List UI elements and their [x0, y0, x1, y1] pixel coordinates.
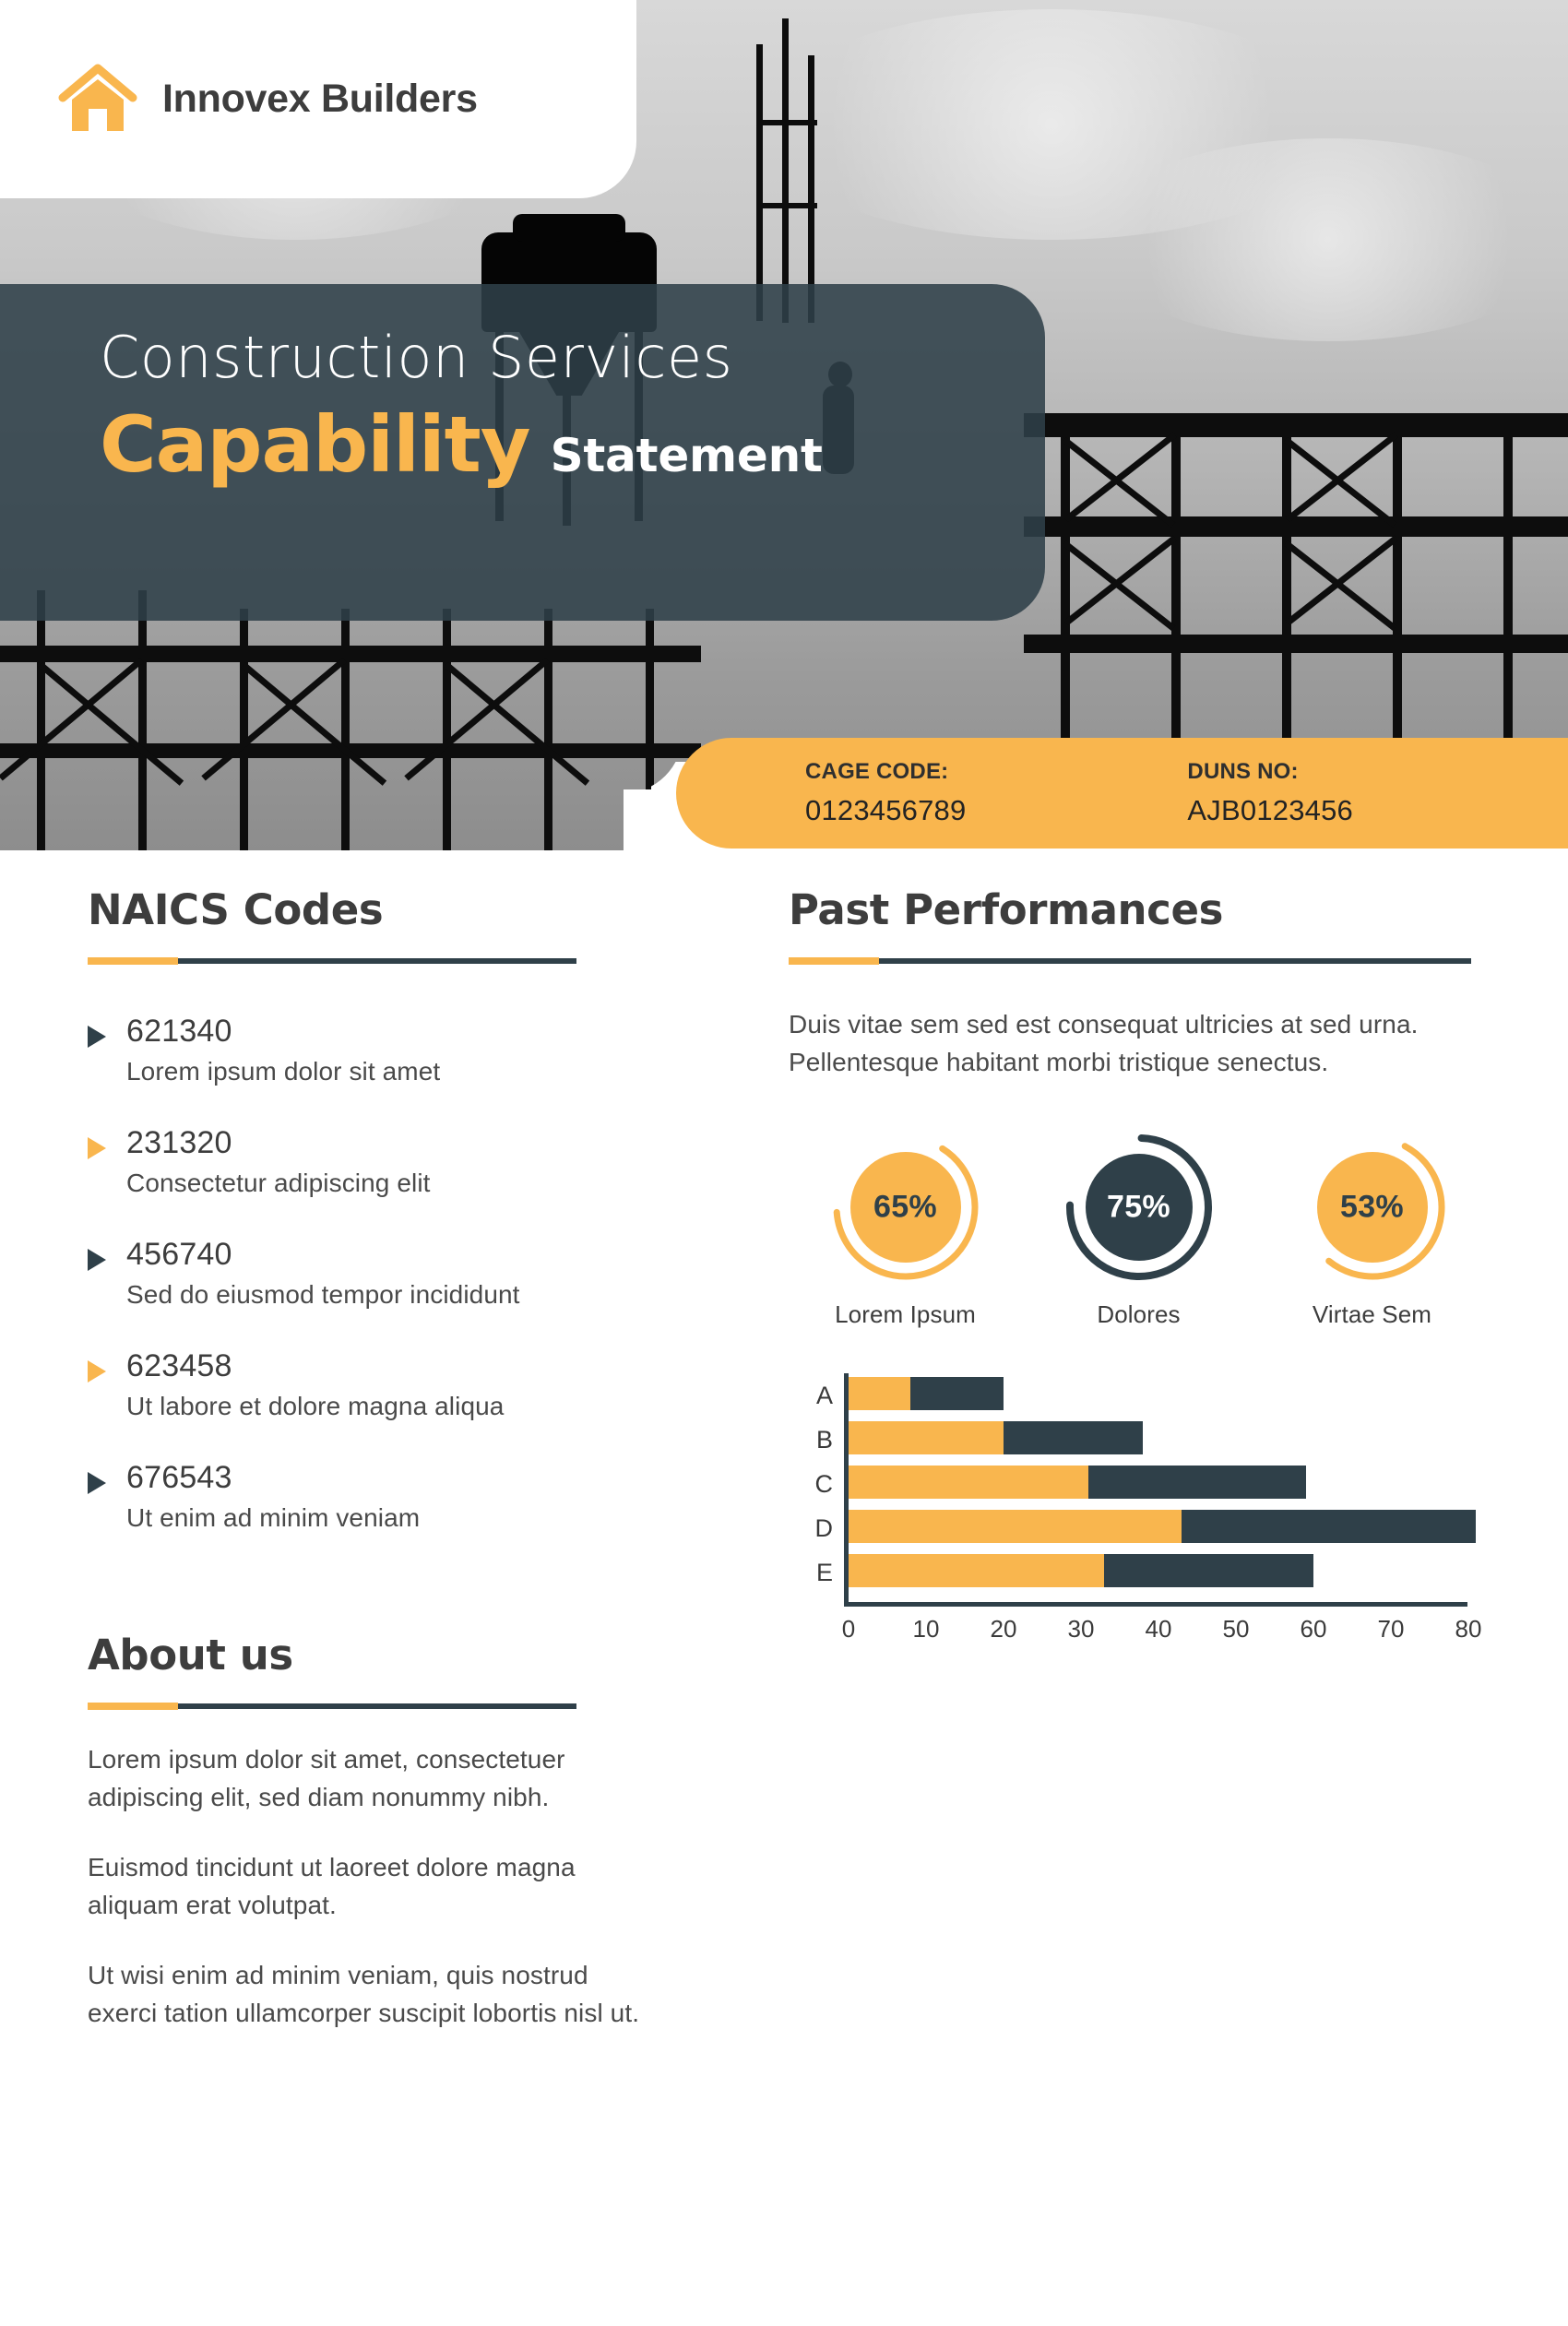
right-column: Past Performances Duis vitae sem sed est… — [789, 885, 1490, 1650]
hero-title-suffix: Statement — [551, 429, 823, 482]
donut-gauge: 75% — [1061, 1129, 1218, 1286]
chart-bar-row — [849, 1466, 1306, 1499]
chart-tick-label: 20 — [991, 1615, 1017, 1644]
gauge-item: 65% Lorem Ipsum — [789, 1129, 1022, 1329]
cage-code-value: 0123456789 — [805, 794, 966, 827]
naics-code: 456740 — [126, 1237, 232, 1272]
gauge-item: 53% Virtae Sem — [1255, 1129, 1489, 1329]
stacked-bar-chart: A B C D E 01020304050607080 — [789, 1373, 1490, 1650]
gauge-label: Dolores — [1022, 1300, 1255, 1329]
chart-bar-segment — [1004, 1421, 1143, 1454]
chart-x-axis — [844, 1602, 1467, 1607]
gauge-value: 65% — [827, 1190, 984, 1226]
chart-bar-row — [849, 1377, 1004, 1410]
chart-tick-label: 60 — [1301, 1615, 1327, 1644]
chart-tick-label: 50 — [1223, 1615, 1250, 1644]
naics-list: 621340 Lorem ipsum dolor sit amet 231320… — [88, 1014, 659, 1533]
list-item: 231320 Consectetur adipiscing elit — [88, 1125, 659, 1198]
chart-bar-row — [849, 1554, 1313, 1587]
about-heading-rule — [88, 1703, 576, 1709]
brand-logo-tab: Innovex Builders — [0, 0, 636, 198]
triangle-right-icon — [88, 1249, 106, 1271]
chart-bar-segment — [910, 1377, 1004, 1410]
hero-title-line1: Construction Services — [100, 325, 1045, 390]
past-performances-body: Duis vitae sem sed est consequat ultrici… — [789, 1006, 1490, 1081]
chart-bar-segment — [1088, 1466, 1305, 1499]
gauge-item: 75% Dolores — [1022, 1129, 1255, 1329]
naics-code: 621340 — [126, 1014, 232, 1049]
gauge-value: 53% — [1294, 1190, 1451, 1226]
list-item: 623458 Ut labore et dolore magna aliqua — [88, 1348, 659, 1421]
chart-category-label: B — [789, 1426, 833, 1454]
chart-tick-label: 30 — [1068, 1615, 1095, 1644]
gauge-label: Virtae Sem — [1255, 1300, 1489, 1329]
chart-tick-label: 10 — [913, 1615, 940, 1644]
chart-bar-segment — [849, 1510, 1182, 1543]
donut-gauge: 65% — [827, 1129, 984, 1286]
duns-no-block: DUNS NO: AJB0123456 — [1187, 759, 1353, 827]
past-performances-heading-rule — [789, 958, 1471, 964]
naics-description: Consectetur adipiscing elit — [126, 1169, 431, 1198]
duns-no-label: DUNS NO: — [1187, 759, 1353, 785]
cage-code-label: CAGE CODE: — [805, 759, 966, 785]
list-item: 456740 Sed do eiusmod tempor incididunt — [88, 1237, 659, 1310]
list-item: 621340 Lorem ipsum dolor sit amet — [88, 1014, 659, 1086]
chart-bar-segment — [1104, 1554, 1313, 1587]
triangle-right-icon — [88, 1026, 106, 1048]
identifier-code-bar: CAGE CODE: 0123456789 DUNS NO: AJB012345… — [676, 738, 1568, 849]
naics-description: Sed do eiusmod tempor incididunt — [126, 1280, 520, 1310]
chart-tick-label: 0 — [842, 1615, 855, 1644]
hero-title-highlight: Capability — [100, 399, 530, 490]
chart-bar-segment — [849, 1421, 1004, 1454]
naics-heading: NAICS Codes — [88, 885, 659, 934]
hero-title-line2: CapabilityStatement — [100, 399, 1045, 490]
chart-category-label: D — [789, 1514, 833, 1543]
naics-heading-rule — [88, 958, 576, 964]
chart-category-label: E — [789, 1559, 833, 1587]
chart-category-label: C — [789, 1470, 833, 1499]
naics-code: 231320 — [126, 1125, 232, 1160]
naics-code: 676543 — [126, 1460, 232, 1495]
chart-bar-segment — [1182, 1510, 1476, 1543]
chart-tick-label: 70 — [1378, 1615, 1405, 1644]
chart-tick-label: 40 — [1146, 1615, 1172, 1644]
brand-name: Innovex Builders — [162, 77, 478, 122]
chart-bar-row — [849, 1421, 1143, 1454]
triangle-right-icon — [88, 1137, 106, 1159]
chart-bar-segment — [849, 1466, 1088, 1499]
about-paragraph: Lorem ipsum dolor sit amet, consectetuer… — [88, 1740, 659, 1817]
naics-code: 623458 — [126, 1348, 232, 1383]
list-item: 676543 Ut enim ad minim veniam — [88, 1460, 659, 1533]
gauge-value: 75% — [1061, 1190, 1218, 1226]
naics-description: Ut enim ad minim veniam — [126, 1503, 420, 1533]
donut-gauge: 53% — [1294, 1129, 1451, 1286]
about-body: Lorem ipsum dolor sit amet, consectetuer… — [88, 1740, 659, 2033]
home-icon — [57, 63, 138, 136]
past-performances-heading: Past Performances — [789, 885, 1490, 934]
chart-bar-row — [849, 1510, 1476, 1543]
capability-statement-page: Innovex Builders Construction Services C… — [0, 0, 1568, 2217]
cage-code-block: CAGE CODE: 0123456789 — [805, 759, 966, 827]
hero-title-panel: Construction Services CapabilityStatemen… — [0, 284, 1045, 621]
chart-category-label: A — [789, 1382, 833, 1410]
gauge-group: 65% Lorem Ipsum 75% Dolores — [789, 1129, 1490, 1329]
naics-description: Lorem ipsum dolor sit amet — [126, 1057, 440, 1086]
gauge-label: Lorem Ipsum — [789, 1300, 1022, 1329]
chart-bar-segment — [849, 1377, 910, 1410]
triangle-right-icon — [88, 1360, 106, 1383]
about-heading: About us — [88, 1631, 659, 1679]
naics-description: Ut labore et dolore magna aliqua — [126, 1392, 504, 1421]
chart-bar-segment — [849, 1554, 1104, 1587]
duns-no-value: AJB0123456 — [1187, 794, 1353, 827]
about-section: About us Lorem ipsum dolor sit amet, con… — [88, 1631, 659, 2033]
triangle-right-icon — [88, 1472, 106, 1494]
left-column: NAICS Codes 621340 Lorem ipsum dolor sit… — [88, 885, 659, 2033]
chart-tick-label: 80 — [1455, 1615, 1482, 1644]
about-paragraph: Euismod tincidunt ut laoreet dolore magn… — [88, 1848, 659, 1925]
about-paragraph: Ut wisi enim ad minim veniam, quis nostr… — [88, 1956, 659, 2033]
